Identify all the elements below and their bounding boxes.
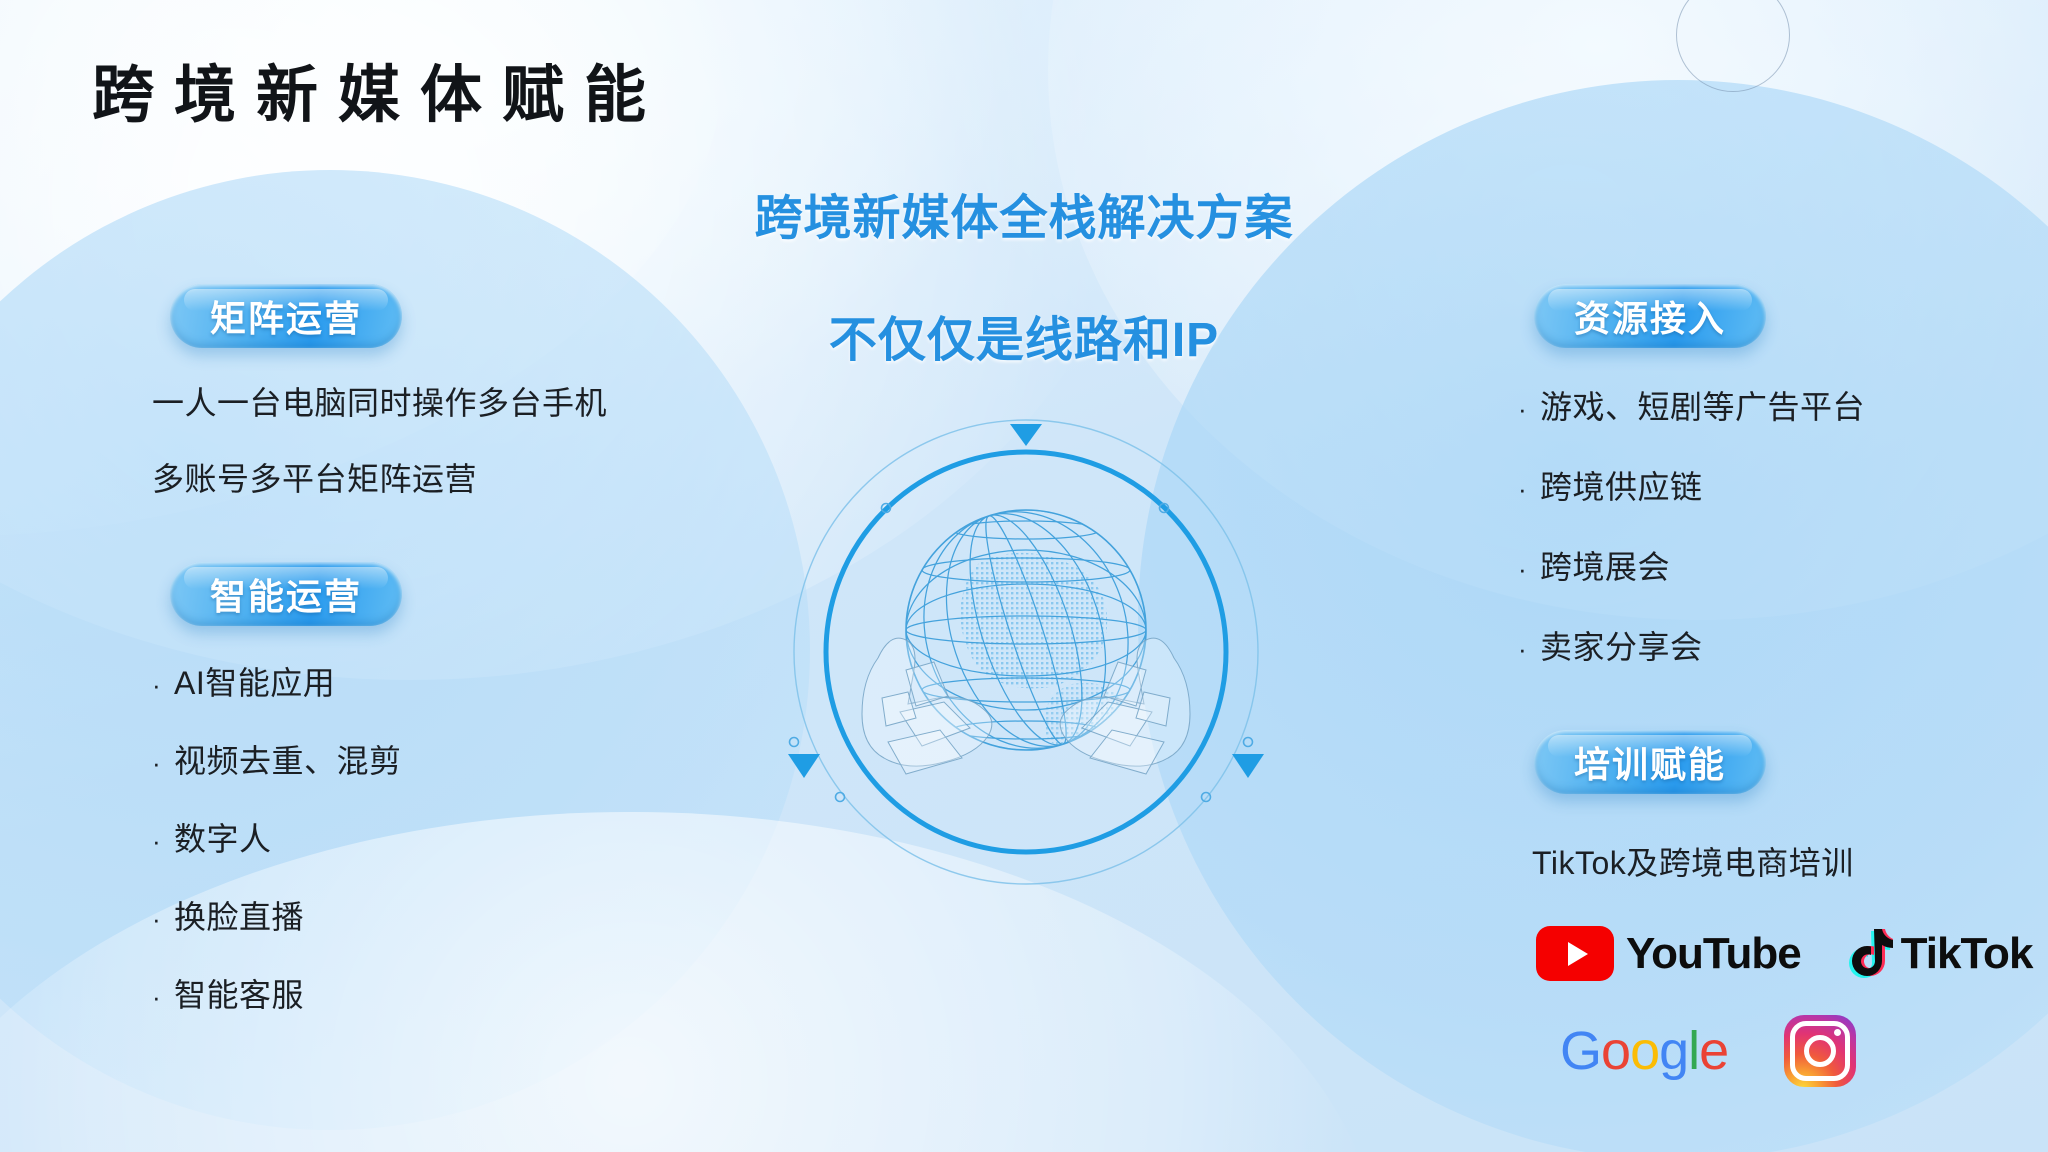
bullet-dot-icon: ·	[152, 670, 174, 701]
center-heading-secondary: 不仅仅是线路和IP	[624, 300, 1424, 370]
list-item-label: AI智能应用	[174, 658, 335, 704]
youtube-label: YouTube	[1626, 929, 1801, 979]
page-title: 跨境新媒体赋能	[92, 44, 666, 134]
google-letter-3: o	[1630, 1021, 1659, 1081]
google-letter-4: g	[1659, 1021, 1688, 1081]
logo-row-secondary: Google	[1560, 1015, 2038, 1087]
slide-canvas: 跨境新媒体赋能 跨境新媒体全栈解决方案 不仅仅是线路和IP	[0, 0, 2048, 1152]
instagram-camera-icon	[1790, 1021, 1850, 1081]
section-smart-operations: 智能运营 · AI智能应用 · 视频去重、混剪 · 数字人 · 换脸直播	[152, 562, 692, 1016]
list-item-label: 换脸直播	[174, 892, 304, 938]
pill-smart-operations[interactable]: 智能运营	[170, 562, 402, 626]
list-item: · 卖家分享会	[1518, 622, 2038, 668]
youtube-logo[interactable]: YouTube	[1536, 926, 1801, 981]
list-item: · 智能客服	[152, 970, 692, 1016]
list-item-label: 跨境供应链	[1540, 462, 1703, 508]
center-heading-primary: 跨境新媒体全栈解决方案	[624, 178, 1424, 248]
list-item: · 跨境展会	[1518, 542, 2038, 588]
pill-training-empowerment[interactable]: 培训赋能	[1534, 730, 1766, 794]
tiktok-label: TikTok	[1901, 929, 2033, 979]
bullet-dot-icon: ·	[1518, 554, 1540, 585]
list-item: · 游戏、短剧等广告平台	[1518, 382, 2038, 428]
section-matrix-operations: 矩阵运营 一人一台电脑同时操作多台手机 多账号多平台矩阵运营	[152, 284, 692, 500]
matrix-line-2: 多账号多平台矩阵运营	[152, 454, 692, 500]
google-letter-6: e	[1699, 1021, 1728, 1081]
section-training-empowerment: 培训赋能 TikTok及跨境电商培训	[1518, 730, 2038, 884]
tiktok-logo[interactable]: TikTok	[1847, 927, 2033, 981]
section-resource-access: 资源接入 · 游戏、短剧等广告平台 · 跨境供应链 · 跨境展会 · 卖家分享会	[1518, 284, 2038, 668]
google-logo[interactable]: Google	[1560, 1020, 1728, 1082]
list-item-label: 卖家分享会	[1540, 622, 1703, 668]
list-item-label: 数字人	[174, 814, 272, 860]
bullet-dot-icon: ·	[152, 748, 174, 779]
instagram-logo[interactable]	[1784, 1015, 1856, 1087]
spacer	[1518, 668, 2038, 730]
google-letter-5: l	[1688, 1021, 1699, 1081]
bullet-dot-icon: ·	[1518, 394, 1540, 425]
list-item-label: 跨境展会	[1540, 542, 1670, 588]
youtube-play-icon	[1536, 926, 1614, 981]
spacer	[152, 500, 692, 562]
left-column: 矩阵运营 一人一台电脑同时操作多台手机 多账号多平台矩阵运营 智能运营 · AI…	[152, 284, 692, 1016]
list-item: · AI智能应用	[152, 658, 692, 704]
list-item-label: 视频去重、混剪	[174, 736, 402, 782]
pill-resource-access[interactable]: 资源接入	[1534, 284, 1766, 348]
logo-row-primary: YouTube TikTok	[1536, 926, 2038, 981]
right-column: 资源接入 · 游戏、短剧等广告平台 · 跨境供应链 · 跨境展会 · 卖家分享会	[1518, 284, 2038, 1087]
center-heading-group: 跨境新媒体全栈解决方案 不仅仅是线路和IP	[624, 178, 1424, 370]
list-item: · 视频去重、混剪	[152, 736, 692, 782]
google-letter-2: o	[1601, 1021, 1630, 1081]
google-letter-1: G	[1560, 1021, 1601, 1081]
globe-in-hands-illustration	[786, 412, 1266, 892]
matrix-line-1: 一人一台电脑同时操作多台手机	[152, 378, 692, 424]
list-item: · 换脸直播	[152, 892, 692, 938]
smart-operations-list: · AI智能应用 · 视频去重、混剪 · 数字人 · 换脸直播 · 智能客服	[152, 658, 692, 1016]
bullet-dot-icon: ·	[152, 982, 174, 1013]
bullet-dot-icon: ·	[1518, 474, 1540, 505]
bullet-dot-icon: ·	[152, 826, 174, 857]
bullet-dot-icon: ·	[1518, 634, 1540, 665]
list-item-label: 智能客服	[174, 970, 304, 1016]
training-subtitle: TikTok及跨境电商培训	[1532, 838, 2038, 884]
pill-matrix-operations[interactable]: 矩阵运营	[170, 284, 402, 348]
tiktok-note-icon	[1847, 927, 1893, 981]
resource-access-list: · 游戏、短剧等广告平台 · 跨境供应链 · 跨境展会 · 卖家分享会	[1518, 382, 2038, 668]
bullet-dot-icon: ·	[152, 904, 174, 935]
list-item-label: 游戏、短剧等广告平台	[1540, 382, 1865, 428]
list-item: · 跨境供应链	[1518, 462, 2038, 508]
list-item: · 数字人	[152, 814, 692, 860]
